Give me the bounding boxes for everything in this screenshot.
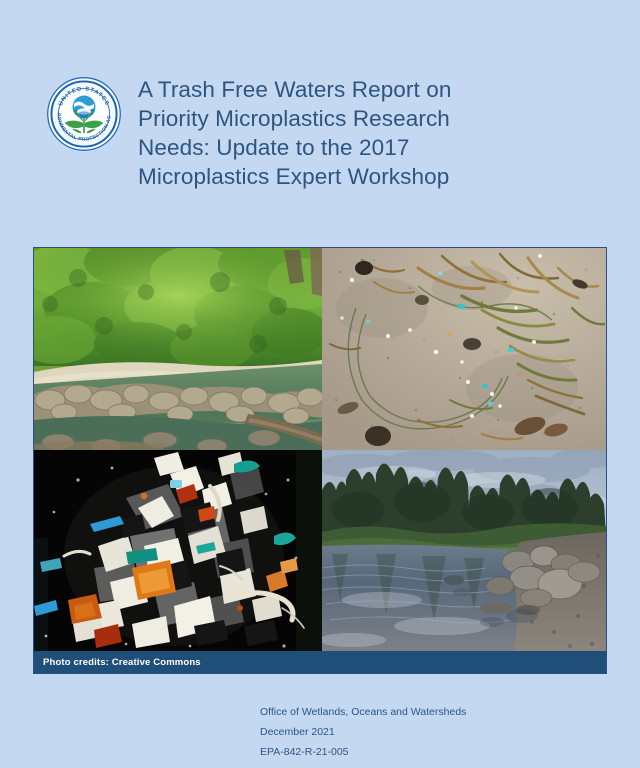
photo-grid xyxy=(34,248,606,651)
cover-footer: Office of Wetlands, Oceans and Watershed… xyxy=(260,702,466,762)
cover-header: UNITED STATES ENVIRONMENTAL PROTECTION A… xyxy=(0,0,640,230)
photo-credits-label: Photo credits: Creative Commons xyxy=(34,657,201,668)
title-line-3: Needs: Update to the 2017 xyxy=(138,133,538,162)
photo-collage: Photo credits: Creative Commons xyxy=(33,247,607,674)
page-title: A Trash Free Waters Report on Priority M… xyxy=(138,75,538,191)
photo-microplastic-fragments xyxy=(34,450,322,651)
epa-seal-icon: UNITED STATES ENVIRONMENTAL PROTECTION A… xyxy=(47,77,121,151)
photo-forest-stream xyxy=(34,248,322,450)
title-line-2: Priority Microplastics Research xyxy=(138,104,538,133)
footer-date: December 2021 xyxy=(260,722,466,742)
footer-office: Office of Wetlands, Oceans and Watershed… xyxy=(260,702,466,722)
photo-river-rocks xyxy=(322,450,606,651)
photo-sand-debris xyxy=(322,248,606,450)
photo-credits-banner: Photo credits: Creative Commons xyxy=(34,651,606,673)
title-line-1: A Trash Free Waters Report on xyxy=(138,75,538,104)
footer-report-number: EPA-842-R-21-005 xyxy=(260,742,466,762)
title-line-4: Microplastics Expert Workshop xyxy=(138,162,538,191)
